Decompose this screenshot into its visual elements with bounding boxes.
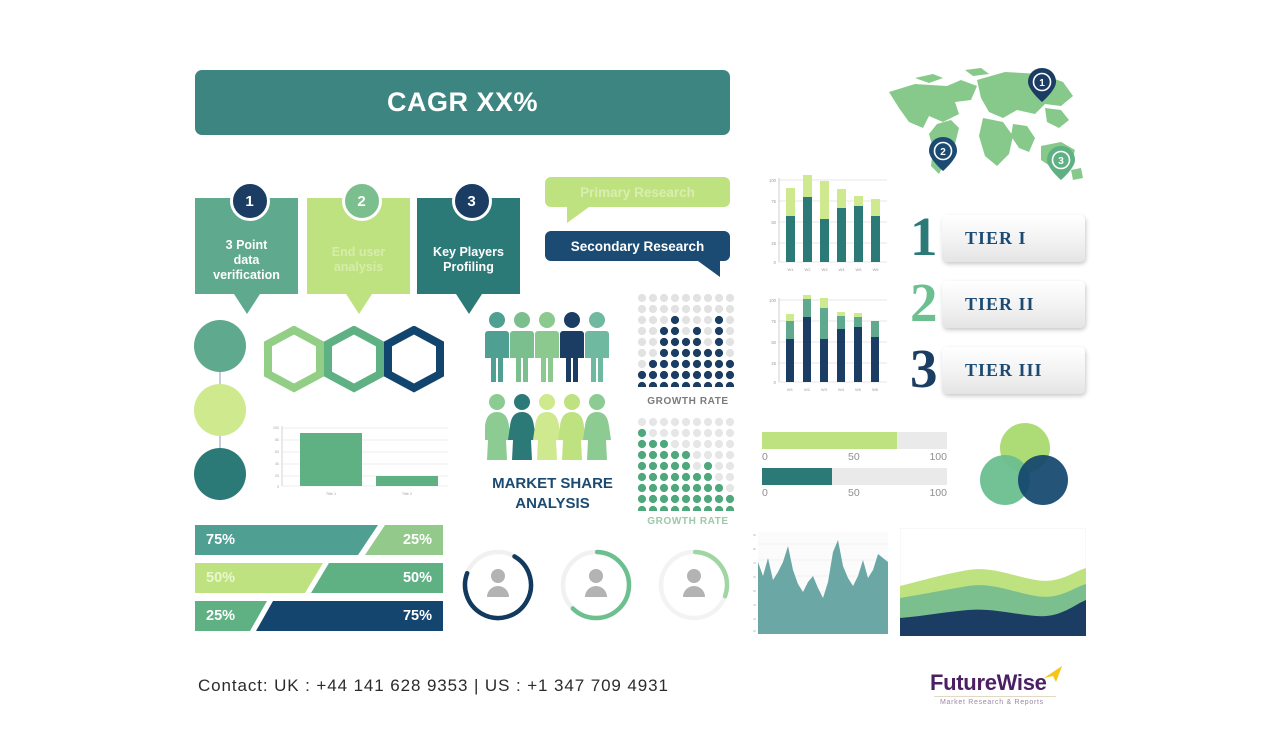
svg-text:Title 1: Title 1 — [326, 492, 336, 496]
svg-text:W5: W5 — [856, 267, 863, 272]
percent-bar-row-1-left: 75% — [195, 525, 235, 555]
slider-bar-1-fill — [762, 432, 897, 449]
percent-bar-row-2-right-value: 50% — [403, 570, 443, 586]
circle-stack — [192, 320, 252, 500]
people-row-female — [485, 394, 611, 460]
step-card-3[interactable]: 3 Key PlayersProfiling — [417, 198, 520, 294]
svg-text:Title 2: Title 2 — [402, 492, 412, 496]
svg-text:75: 75 — [771, 199, 776, 204]
y-axis-ticks-bottom-chart: 1007550 250 — [769, 298, 777, 385]
svg-text:W1: W1 — [787, 387, 794, 392]
venn-diagram — [975, 422, 1075, 512]
svg-text:0: 0 — [774, 380, 777, 385]
logo-tagline: Market Research & Reports — [940, 699, 1044, 706]
step-card-1-tail — [234, 294, 260, 314]
svg-text:50: 50 — [771, 340, 776, 345]
percent-bar-row-3-left-value: 25% — [195, 608, 235, 624]
percent-bar-row-1-right-value: 25% — [403, 532, 443, 548]
percent-bar-row-1-right: 25% — [403, 525, 443, 555]
svg-text:W3: W3 — [822, 267, 829, 272]
step-card-2-label: End useranalysis — [307, 245, 410, 275]
cagr-banner: CAGR XX% — [195, 70, 730, 135]
slider-bar-1-min: 0 — [762, 451, 768, 463]
tier-item-3-label: TIER III — [965, 360, 1043, 381]
tier-item-2[interactable]: 2 TIER II — [910, 281, 1085, 328]
gridlines-bottom-chart — [779, 300, 887, 382]
map-pin-3: 3 — [1047, 146, 1075, 180]
secondary-research-label: Secondary Research — [571, 239, 705, 254]
tier-item-1[interactable]: 1 TIER I — [910, 215, 1085, 262]
slider-bar-2-fill — [762, 468, 832, 485]
svg-text:25: 25 — [771, 361, 776, 366]
slider-bar-1-mid: 50 — [848, 451, 860, 463]
slider-bar-1-max: 100 — [929, 451, 947, 463]
primary-research-label: Primary Research — [580, 185, 695, 200]
donut-2 — [562, 551, 630, 619]
svg-text:75: 75 — [771, 319, 776, 324]
circle-stack-item-1 — [194, 320, 246, 372]
step-card-2-number: 2 — [342, 181, 382, 221]
percent-bar-row-3-right: 75% — [403, 601, 443, 631]
percent-bar-row-2-left-value: 50% — [195, 570, 235, 586]
simple-bar-1 — [300, 433, 362, 486]
tier-item-1-label: TIER I — [965, 228, 1027, 249]
venn-circle-3 — [1018, 455, 1068, 505]
percent-bar-row-2-right: 50% — [403, 563, 443, 593]
svg-text:60: 60 — [753, 575, 756, 579]
chart-simple-bar: 1008060 40200 Title 1Title 2 — [258, 420, 453, 500]
svg-text:40: 40 — [753, 603, 756, 607]
secondary-research-tail — [698, 261, 720, 277]
step-card-1-label: 3 Pointdataverification — [195, 238, 298, 283]
x-axis-labels-top-chart: W1W2W3 W4W5W6 — [788, 267, 880, 272]
market-share-caption: MARKET SHARE ANALYSIS — [470, 474, 635, 514]
simple-bar-2 — [376, 476, 438, 486]
svg-text:70: 70 — [753, 561, 756, 565]
step-card-1[interactable]: 1 3 Pointdataverification — [195, 198, 298, 294]
slider-bar-1-scale: 0 50 100 — [762, 451, 947, 465]
futurewise-logo[interactable]: FutureWise Market Research & Reports — [930, 670, 1070, 716]
donut-3 — [660, 551, 728, 619]
step-card-2[interactable]: 2 End useranalysis — [307, 198, 410, 294]
growth-rate-top-caption: GROWTH RATE — [636, 396, 740, 407]
svg-text:0: 0 — [277, 485, 279, 489]
svg-text:80: 80 — [753, 547, 756, 551]
percent-bar-row-3: 25% 75% — [195, 601, 443, 631]
slider-bar-2-scale: 0 50 100 — [762, 487, 947, 501]
people-row-male — [485, 312, 609, 382]
svg-text:50: 50 — [753, 589, 756, 593]
world-map: 1 2 3 — [885, 62, 1090, 202]
tier-item-3[interactable]: 3 TIER III — [910, 347, 1085, 394]
bars-bottom-chart — [786, 295, 879, 382]
svg-text:W4: W4 — [838, 387, 845, 392]
svg-text:60: 60 — [275, 450, 279, 454]
step-card-3-label: Key PlayersProfiling — [417, 245, 520, 275]
step-card-2-tail — [346, 294, 372, 314]
chart-stacked-bar-top: 1007550 250 W1W2W3 W4W5W6 — [753, 168, 893, 278]
percent-bar-row-3-right-value: 75% — [403, 608, 443, 624]
market-share-caption-line1: MARKET SHARE — [492, 475, 613, 492]
hexagon-row — [262, 326, 462, 396]
tier-item-2-number: 2 — [910, 274, 938, 331]
svg-text:W5: W5 — [855, 387, 862, 392]
y-axis-ticks-area-teal: 908070 605040 3020 — [753, 533, 756, 633]
hexagon-2 — [328, 330, 380, 388]
growth-rate-bottom-caption: GROWTH RATE — [636, 516, 740, 527]
svg-text:100: 100 — [769, 178, 777, 183]
person-icon — [487, 569, 509, 597]
tier-item-1-number: 1 — [910, 208, 938, 265]
svg-text:40: 40 — [275, 462, 279, 466]
slider-bar-2-mid: 50 — [848, 487, 860, 499]
svg-text:W4: W4 — [839, 267, 846, 272]
slider-bar-2-max: 100 — [929, 487, 947, 499]
y-axis-ticks-simple-bar: 1008060 40200 — [273, 426, 279, 489]
infographic-canvas: CAGR XX% 1 3 Pointdataverification 2 End… — [0, 0, 1280, 731]
gridlines-top-chart — [779, 180, 887, 262]
svg-text:20: 20 — [753, 629, 756, 633]
market-share-caption-line2: ANALYSIS — [515, 495, 589, 512]
slider-bar-2-min: 0 — [762, 487, 768, 499]
donut-progress-group — [458, 540, 748, 630]
step-card-3-tail — [456, 294, 482, 314]
hexagon-3 — [388, 330, 440, 388]
contact-line: Contact: UK : +44 141 628 9353 | US : +1… — [198, 676, 669, 696]
svg-text:0: 0 — [774, 260, 777, 265]
percent-bar-row-2: 50% 50% — [195, 563, 443, 593]
hexagon-1 — [268, 330, 320, 388]
cagr-label: CAGR XX% — [387, 87, 538, 118]
svg-text:90: 90 — [753, 533, 756, 537]
logo-arrow-icon — [1042, 666, 1064, 684]
primary-research-callout[interactable]: Primary Research — [545, 177, 730, 207]
chart-area-teal: 908070 605040 3020 — [746, 528, 888, 636]
tier-item-3-number: 3 — [910, 340, 938, 397]
svg-text:30: 30 — [753, 617, 756, 621]
step-card-1-number: 1 — [230, 181, 270, 221]
percent-bar-row-1: 75% 25% — [195, 525, 443, 555]
bars-top-chart — [786, 175, 880, 262]
person-icon — [585, 569, 607, 597]
donut-1 — [458, 540, 543, 630]
svg-text:W2: W2 — [805, 267, 812, 272]
hexagon-shapes — [268, 330, 440, 388]
logo-name: FutureWise — [930, 670, 1047, 696]
svg-text:100: 100 — [769, 298, 777, 303]
chart-area-stacked — [900, 528, 1086, 636]
logo-divider — [934, 696, 1056, 697]
circle-stack-item-2 — [194, 384, 246, 436]
percent-bar-row-1-left-value: 75% — [195, 532, 235, 548]
people-pictogram — [485, 310, 615, 470]
chart-stacked-bar-bottom: 1007550 250 W1W2W3 W4W5W6 — [753, 288, 893, 398]
svg-text:25: 25 — [771, 241, 776, 246]
svg-text:20: 20 — [275, 474, 279, 478]
svg-text:W6: W6 — [872, 387, 879, 392]
percent-bar-row-3-left: 25% — [195, 601, 235, 631]
svg-text:80: 80 — [275, 438, 279, 442]
svg-text:W1: W1 — [788, 267, 795, 272]
secondary-research-callout[interactable]: Secondary Research — [545, 231, 730, 261]
svg-text:100: 100 — [273, 426, 279, 430]
tier-item-2-label: TIER II — [965, 294, 1035, 315]
growth-rate-matrix-bottom — [636, 416, 740, 511]
person-icon — [683, 569, 705, 597]
svg-text:1: 1 — [1039, 78, 1045, 89]
growth-rate-matrix-top — [636, 292, 740, 387]
x-axis-labels-simple-bar: Title 1Title 2 — [326, 492, 412, 496]
svg-text:50: 50 — [771, 220, 776, 225]
y-axis-ticks-top-chart: 1007550 250 — [769, 178, 777, 265]
circle-stack-item-3 — [194, 448, 246, 500]
x-axis-labels-bottom-chart: W1W2W3 W4W5W6 — [787, 387, 879, 392]
svg-text:3: 3 — [1058, 156, 1064, 167]
svg-text:2: 2 — [940, 147, 946, 158]
step-card-3-number: 3 — [452, 181, 492, 221]
svg-text:W2: W2 — [804, 387, 811, 392]
svg-text:W3: W3 — [821, 387, 828, 392]
percent-bar-row-2-left: 50% — [195, 563, 235, 593]
primary-research-tail — [567, 207, 589, 223]
svg-text:W6: W6 — [873, 267, 880, 272]
